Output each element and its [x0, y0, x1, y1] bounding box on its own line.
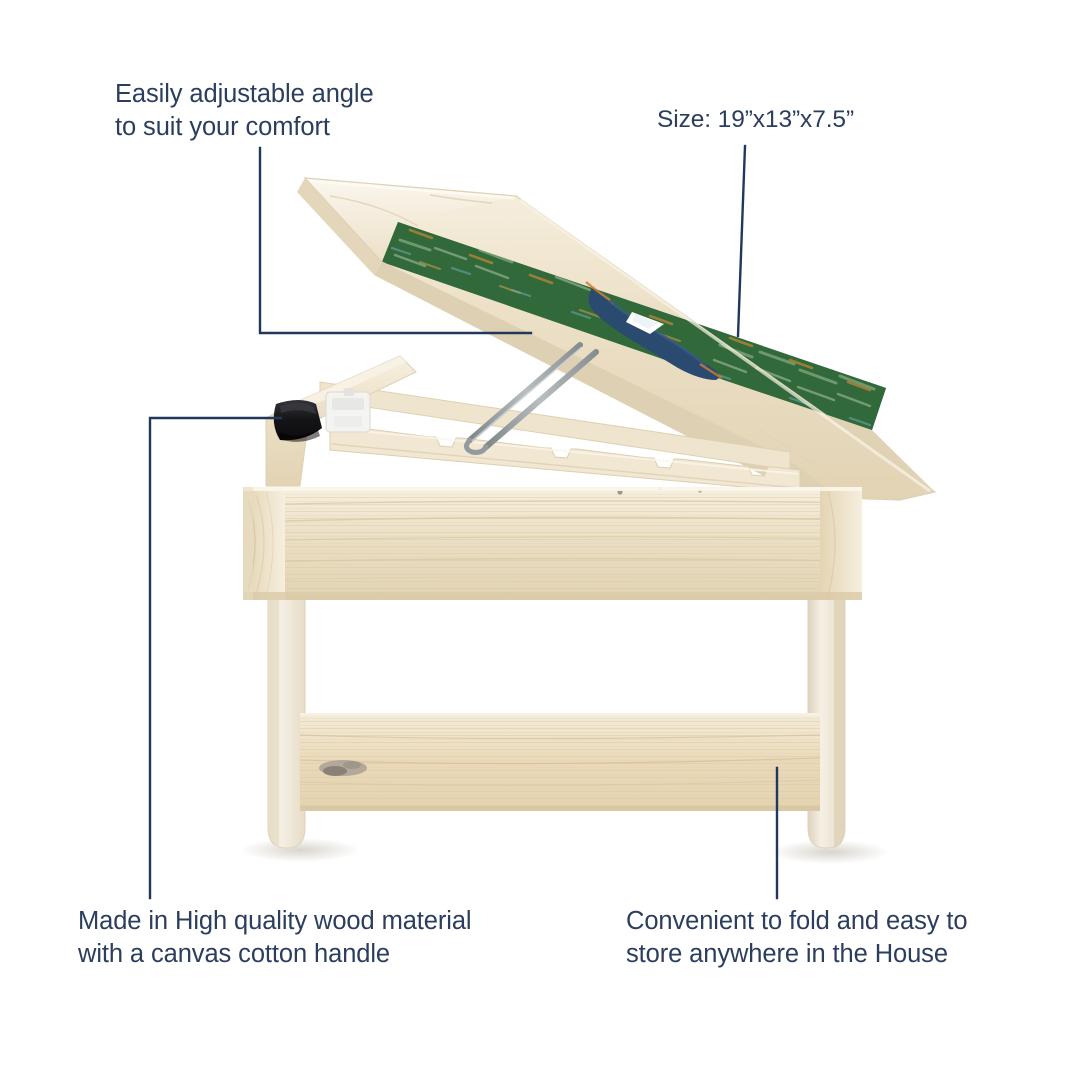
corner-post-left	[243, 487, 253, 600]
infographic-canvas: Easily adjustable angle to suit your com…	[0, 0, 1080, 1080]
wood-knot	[319, 760, 367, 776]
canvas-handle	[274, 400, 322, 442]
callout-adjustable-angle: Easily adjustable angle to suit your com…	[115, 78, 374, 144]
leg-left	[268, 565, 305, 848]
stretcher-bar	[300, 713, 820, 811]
callout-fold-store: Convenient to fold and easy to store any…	[626, 905, 968, 971]
callout-size: Size: 19”x13”x7.5”	[657, 104, 854, 136]
hinge-clip	[326, 388, 370, 432]
callout-material: Made in High quality wood material with …	[78, 905, 471, 971]
front-apron	[243, 487, 862, 600]
